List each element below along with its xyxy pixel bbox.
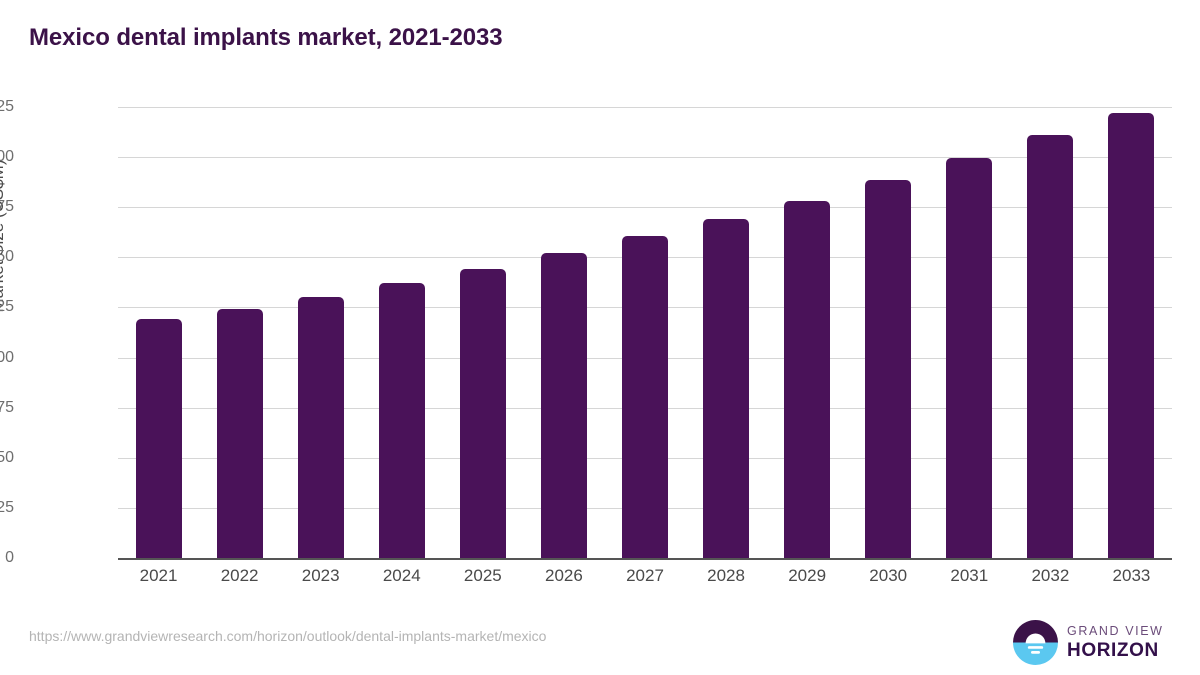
y-tick-label: 175 bbox=[0, 198, 14, 216]
bar-group[interactable] bbox=[784, 201, 830, 558]
gridline bbox=[118, 558, 1172, 560]
bar[interactable] bbox=[703, 219, 749, 558]
horizon-sun-circle-icon bbox=[1013, 620, 1058, 665]
bar-group[interactable] bbox=[946, 158, 992, 558]
page-title: Mexico dental implants market, 2021-2033 bbox=[29, 24, 503, 52]
brand-logo-line2: HORIZON bbox=[1067, 641, 1164, 660]
gridline bbox=[118, 207, 1172, 208]
bar-group[interactable] bbox=[460, 269, 506, 558]
bar[interactable] bbox=[784, 201, 830, 558]
bar-group[interactable] bbox=[703, 219, 749, 558]
bar[interactable] bbox=[379, 283, 425, 558]
bar-group[interactable] bbox=[541, 253, 587, 558]
brand-logo-text: GRAND VIEW HORIZON bbox=[1067, 625, 1164, 661]
bar[interactable] bbox=[541, 253, 587, 558]
bar-group[interactable] bbox=[379, 283, 425, 558]
y-tick-label: 0 bbox=[0, 549, 14, 567]
bar[interactable] bbox=[1027, 135, 1073, 558]
bar-group[interactable] bbox=[217, 309, 263, 558]
y-axis-title: Market Size (US$M) bbox=[0, 159, 8, 312]
bar[interactable] bbox=[946, 158, 992, 558]
gridline bbox=[118, 107, 1172, 108]
x-tick-label: 2033 bbox=[1071, 566, 1191, 586]
brand-logo-line1: GRAND VIEW bbox=[1067, 625, 1164, 638]
bar[interactable] bbox=[136, 319, 182, 558]
bar-group[interactable] bbox=[865, 180, 911, 558]
y-tick-label: 50 bbox=[0, 449, 14, 467]
gridline bbox=[118, 157, 1172, 158]
bar[interactable] bbox=[1108, 113, 1154, 558]
bar-group[interactable] bbox=[136, 319, 182, 558]
bar[interactable] bbox=[298, 297, 344, 558]
bar-group[interactable] bbox=[622, 236, 668, 558]
y-tick-label: 150 bbox=[0, 248, 14, 266]
bar[interactable] bbox=[865, 180, 911, 558]
y-tick-label: 100 bbox=[0, 349, 14, 367]
bar[interactable] bbox=[460, 269, 506, 558]
bar[interactable] bbox=[217, 309, 263, 558]
bar-group[interactable] bbox=[1027, 135, 1073, 558]
brand-logo[interactable]: GRAND VIEW HORIZON bbox=[1013, 620, 1164, 665]
plot-area bbox=[118, 107, 1172, 558]
y-tick-label: 75 bbox=[0, 399, 14, 417]
chart-card: Mexico dental implants market, 2021-2033… bbox=[0, 0, 1200, 675]
y-tick-label: 225 bbox=[0, 98, 14, 116]
bar[interactable] bbox=[622, 236, 668, 558]
bar-group[interactable] bbox=[298, 297, 344, 558]
y-tick-label: 125 bbox=[0, 298, 14, 316]
y-tick-label: 200 bbox=[0, 148, 14, 166]
y-tick-label: 25 bbox=[0, 499, 14, 517]
bar-group[interactable] bbox=[1108, 113, 1154, 558]
source-url[interactable]: https://www.grandviewresearch.com/horizo… bbox=[29, 628, 546, 644]
